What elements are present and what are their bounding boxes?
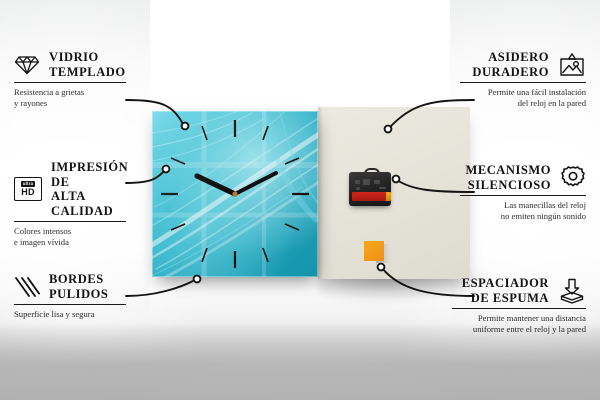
callout-rule: [14, 82, 126, 83]
callout-description: Las manecillas del reloj no emiten ningú…: [460, 200, 586, 221]
callout-title: IMPRESIÓN DE ALTA CALIDAD: [51, 160, 128, 218]
callout-description: Superficie lisa y segura: [14, 309, 126, 320]
callout-description: Resistencia a grietas y rayones: [14, 87, 126, 108]
callout-description: Permite mantener una distancia uniforme …: [452, 313, 586, 334]
gear-icon: [560, 165, 586, 191]
press-down-pad-icon: [558, 278, 586, 304]
callout-description: Colores intensos e imagen vívida: [14, 226, 126, 247]
ultra-hd-badge-top: ultra: [21, 181, 36, 187]
callout-title: VIDRIO TEMPLADO: [49, 50, 126, 79]
callout-rule: [452, 308, 586, 309]
ultra-hd-icon: ultra HD: [14, 177, 42, 201]
callout-asidero-duradero: ASIDERO DURADERO Permite una fácil insta…: [460, 50, 586, 109]
infographic-canvas: VIDRIO TEMPLADO Resistencia a grietas y …: [0, 0, 600, 400]
callout-title: BORDES PULIDOS: [49, 272, 108, 301]
callout-bordes-pulidos: BORDES PULIDOS Superficie lisa y segura: [14, 272, 126, 320]
callout-rule: [460, 195, 586, 196]
ultra-hd-badge-main: HD: [21, 188, 34, 197]
callout-description: Permite una fácil instalación del reloj …: [460, 87, 586, 108]
callout-espaciador-de-espuma: ESPACIADOR DE ESPUMA Permite mantener un…: [452, 276, 586, 335]
callout-title: ASIDERO DURADERO: [472, 50, 549, 79]
callout-title: MECANISMO SILENCIOSO: [465, 163, 551, 192]
callout-title: ESPACIADOR DE ESPUMA: [462, 276, 549, 305]
callout-rule: [14, 304, 126, 305]
callout-mecanismo-silencioso: MECANISMO SILENCIOSO Las manecillas del …: [460, 163, 586, 222]
diagonal-stripes-icon: [14, 276, 40, 298]
callout-vidrio-templado: VIDRIO TEMPLADO Resistencia a grietas y …: [14, 50, 126, 109]
callout-impresion-alta-calidad: ultra HD IMPRESIÓN DE ALTA CALIDAD Color…: [14, 160, 126, 248]
hanging-frame-icon: [558, 53, 586, 77]
callout-rule: [14, 221, 126, 222]
diamond-icon: [14, 54, 40, 76]
callout-rule: [460, 82, 586, 83]
